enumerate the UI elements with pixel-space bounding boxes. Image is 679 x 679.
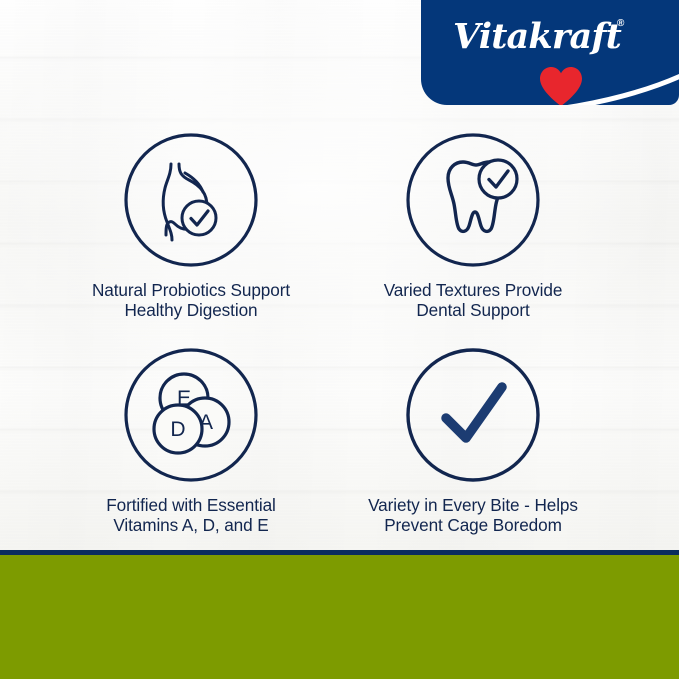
feature-caption: Varied Textures Provide Dental Support xyxy=(308,281,638,320)
feature-caption: Variety in Every Bite - Helps Prevent Ca… xyxy=(308,496,638,535)
product-feature-panel: Vitakraft ® xyxy=(0,0,679,679)
feature-item-variety: Variety in Every Bite - Helps Prevent Ca… xyxy=(308,347,638,535)
feature-item-dental: Varied Textures Provide Dental Support xyxy=(308,132,638,320)
feature-item-probiotics: Natural Probiotics Support Healthy Diges… xyxy=(26,132,356,320)
stomach-check-icon xyxy=(123,132,259,268)
feature-grid: Natural Probiotics Support Healthy Diges… xyxy=(0,132,679,542)
tooth-check-icon xyxy=(405,132,541,268)
feature-caption: Fortified with Essential Vitamins A, D, … xyxy=(26,496,356,535)
feature-caption: Natural Probiotics Support Healthy Diges… xyxy=(26,281,356,320)
vitamin-circles-icon: E A D xyxy=(123,347,259,483)
feature-item-vitamins: E A D Fortified with Essential Vitamins … xyxy=(26,347,356,535)
green-band xyxy=(0,555,679,679)
registered-trademark-icon: ® xyxy=(617,18,624,29)
checkmark-circle-icon xyxy=(405,347,541,483)
heart-icon xyxy=(538,65,584,105)
vitamin-letter-d: D xyxy=(170,418,185,441)
vitakraft-logo-banner: Vitakraft ® xyxy=(421,0,679,105)
